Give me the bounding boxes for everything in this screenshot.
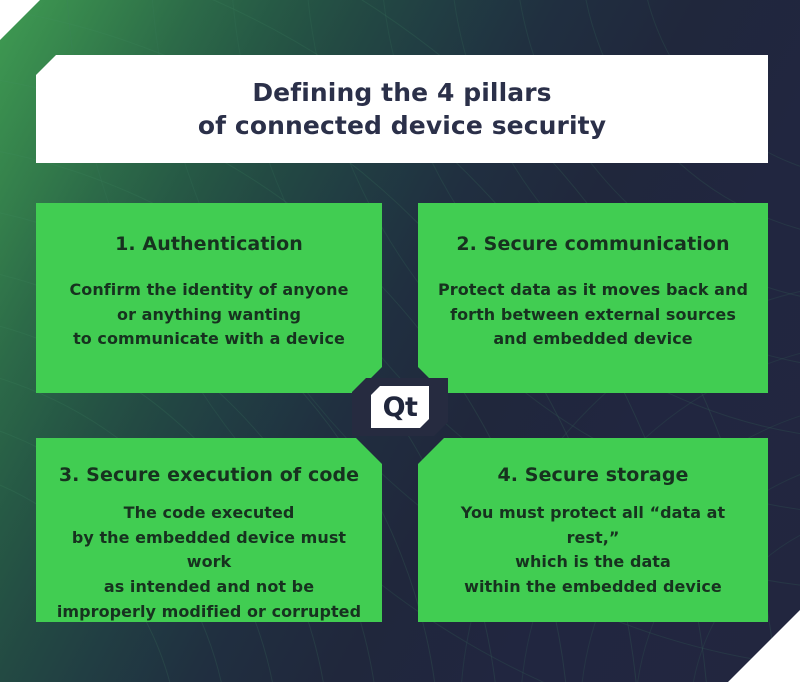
pillar-body-line: You must protect all “data at rest,” (434, 501, 752, 551)
pillar-body-line: Protect data as it moves back and (438, 278, 748, 303)
pillar-body-line: to communicate with a device (70, 327, 349, 352)
infographic-poster: Defining the 4 pillars of connected devi… (0, 0, 800, 682)
pillar-body: The code executed by the embedded device… (52, 501, 366, 625)
pillar-body-line: forth between external sources (438, 303, 748, 328)
title-card: Defining the 4 pillars of connected devi… (36, 55, 768, 163)
pillar-card-secure-communication: 2. Secure communication Protect data as … (418, 203, 768, 393)
page-title: Defining the 4 pillars of connected devi… (198, 76, 606, 143)
pillar-body-line: The code executed (52, 501, 366, 526)
pillar-body-line: by the embedded device must work (52, 526, 366, 576)
pillar-body-line: Confirm the identity of anyone (70, 278, 349, 303)
pillar-card-secure-storage: 4. Secure storage You must protect all “… (418, 438, 768, 622)
pillar-body-line: or anything wanting (70, 303, 349, 328)
pillar-heading: 3. Secure execution of code (59, 464, 359, 487)
pillar-body-line: and embedded device (438, 327, 748, 352)
pillar-body: Confirm the identity of anyone or anythi… (70, 278, 349, 352)
pillar-heading: 4. Secure storage (497, 464, 688, 487)
pillar-body: Protect data as it moves back and forth … (438, 278, 748, 352)
pillar-card-authentication: 1. Authentication Confirm the identity o… (36, 203, 382, 393)
pillar-heading: 1. Authentication (115, 233, 303, 256)
page-title-line-2: of connected device security (198, 109, 606, 142)
page-title-line-1: Defining the 4 pillars (198, 76, 606, 109)
pillar-heading: 2. Secure communication (456, 233, 729, 256)
pillar-body-line: improperly modified or corrupted (52, 600, 366, 625)
pillar-body-line: within the embedded device (434, 575, 752, 600)
qt-logo-text: Qt (383, 394, 418, 421)
pillar-body: You must protect all “data at rest,” whi… (434, 501, 752, 600)
pillar-body-line: as intended and not be (52, 575, 366, 600)
corner-cut-top-left (0, 0, 40, 40)
qt-logo: Qt (371, 386, 429, 428)
pillar-body-line: which is the data (434, 550, 752, 575)
pillar-card-secure-execution-of-code: 3. Secure execution of code The code exe… (36, 438, 382, 622)
